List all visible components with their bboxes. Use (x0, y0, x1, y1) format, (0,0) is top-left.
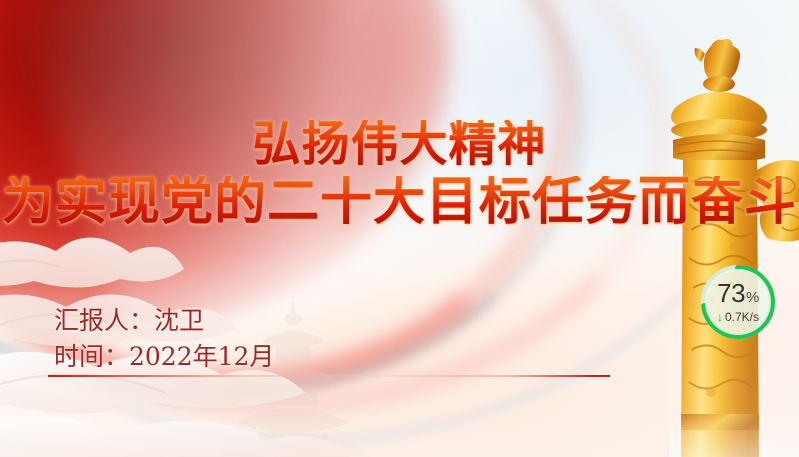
download-progress-indicator[interactable]: 73 % ↓ 0.7K/s (699, 263, 777, 341)
main-title-line-2: 为实现党的二十大目标任务而奋斗 (0, 176, 799, 228)
subtitle-underline (48, 375, 610, 377)
title-block: 弘扬伟大精神 为实现党的二十大目标任务而奋斗 (0, 120, 799, 228)
download-speed-value: 0.7K/s (725, 310, 759, 324)
download-percent-value: 73 (717, 280, 745, 306)
presenter-line: 汇报人：沈卫 (54, 303, 274, 339)
download-percent: 73 % (717, 280, 759, 306)
download-arrow-icon: ↓ (717, 311, 723, 323)
progress-ring-face: 73 % ↓ 0.7K/s (705, 269, 771, 335)
download-speed: ↓ 0.7K/s (717, 310, 759, 324)
presentation-slide: 弘扬伟大精神 为实现党的二十大目标任务而奋斗 汇报人：沈卫 时间：2022年12… (0, 0, 799, 457)
percent-sign: % (746, 290, 759, 305)
subtitle-block: 汇报人：沈卫 时间：2022年12月 (54, 303, 274, 375)
date-line: 时间：2022年12月 (54, 339, 274, 375)
main-title-line-1: 弘扬伟大精神 (0, 120, 799, 168)
